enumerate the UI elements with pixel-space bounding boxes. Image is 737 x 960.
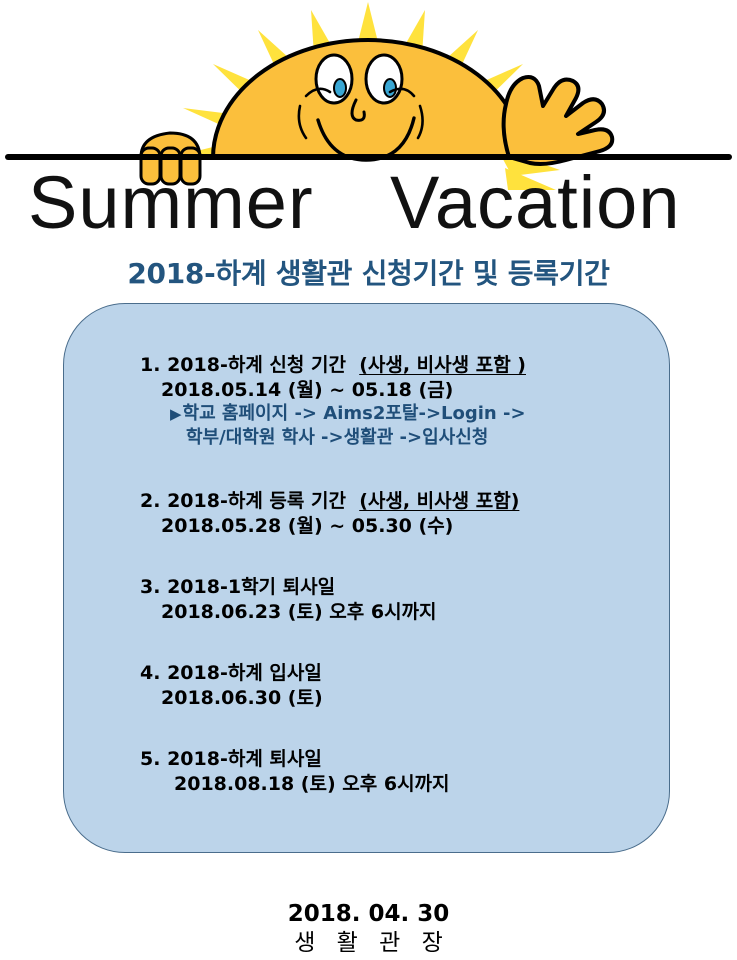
header-illustration: Summer Vacation (0, 0, 737, 240)
item-heading-note: (사생, 비사생 포함) (359, 490, 519, 512)
list-item: 2. 2018-하계 등록 기간 (사생, 비사생 포함) 2018.05.28… (140, 490, 660, 538)
item-sub-line-1: ▶학교 홈페이지 -> Aims2포탈->Login -> (140, 402, 660, 426)
item-date: 2018.08.18 (토) 오후 6시까지 (140, 772, 660, 797)
item-heading-text: 2018-하계 신청 기간 (167, 354, 346, 376)
triangle-bullet-icon: ▶ (170, 405, 183, 423)
list-item: 5. 2018-하계 퇴사일 2018.08.18 (토) 오후 6시까지 (140, 748, 660, 796)
item-date: 2018.06.23 (토) 오후 6시까지 (140, 600, 660, 625)
item-heading: 1. 2018-하계 신청 기간 (사생, 비사생 포함 ) (140, 354, 660, 378)
page-title: 2018-하계 생활관 신청기간 및 등록기간 (0, 252, 737, 292)
item-heading-note: (사생, 비사생 포함 ) (359, 354, 526, 376)
wordmark-summer: Summer (28, 161, 314, 240)
item-number: 5. (140, 748, 160, 770)
list-item: 1. 2018-하계 신청 기간 (사생, 비사생 포함 ) 2018.05.1… (140, 354, 660, 450)
footer-signature: 생 활 관 장 (0, 929, 737, 959)
item-heading: 4. 2018-하계 입사일 (140, 662, 660, 686)
wordmark-vacation: Vacation (390, 161, 681, 240)
item-heading-text: 2018-하계 퇴사일 (167, 748, 322, 770)
item-date: 2018.05.28 (월) ~ 05.30 (수) (140, 514, 660, 539)
item-heading-text: 2018-하계 등록 기간 (167, 490, 346, 512)
notice-items-list: 1. 2018-하계 신청 기간 (사생, 비사생 포함 ) 2018.05.1… (64, 304, 671, 854)
item-date: 2018.06.30 (토) (140, 686, 660, 711)
item-heading: 2. 2018-하계 등록 기간 (사생, 비사생 포함) (140, 490, 660, 514)
item-heading-text: 2018-하계 입사일 (167, 662, 322, 684)
item-number: 3. (140, 576, 160, 598)
sun-face-icon (213, 40, 523, 158)
item-sub-line-1-text: 학교 홈페이지 -> Aims2포탈->Login -> (183, 403, 526, 424)
item-date: 2018.05.14 (월) ~ 05.18 (금) (140, 378, 660, 403)
item-sub-line-2: 학부/대학원 학사 ->생활관 ->입사신청 (140, 426, 660, 450)
list-item: 4. 2018-하계 입사일 2018.06.30 (토) (140, 662, 660, 710)
sun-waving-hand-icon (504, 77, 613, 164)
item-number: 2. (140, 490, 160, 512)
item-number: 4. (140, 662, 160, 684)
item-heading: 3. 2018-1학기 퇴사일 (140, 576, 660, 600)
notice-panel: 1. 2018-하계 신청 기간 (사생, 비사생 포함 ) 2018.05.1… (63, 303, 670, 853)
list-item: 3. 2018-1학기 퇴사일 2018.06.23 (토) 오후 6시까지 (140, 576, 660, 624)
item-heading-text: 2018-1학기 퇴사일 (167, 576, 335, 598)
item-heading: 5. 2018-하계 퇴사일 (140, 748, 660, 772)
item-number: 1. (140, 354, 160, 376)
footer: 2018. 04. 30 생 활 관 장 (0, 900, 737, 959)
footer-date: 2018. 04. 30 (0, 900, 737, 929)
